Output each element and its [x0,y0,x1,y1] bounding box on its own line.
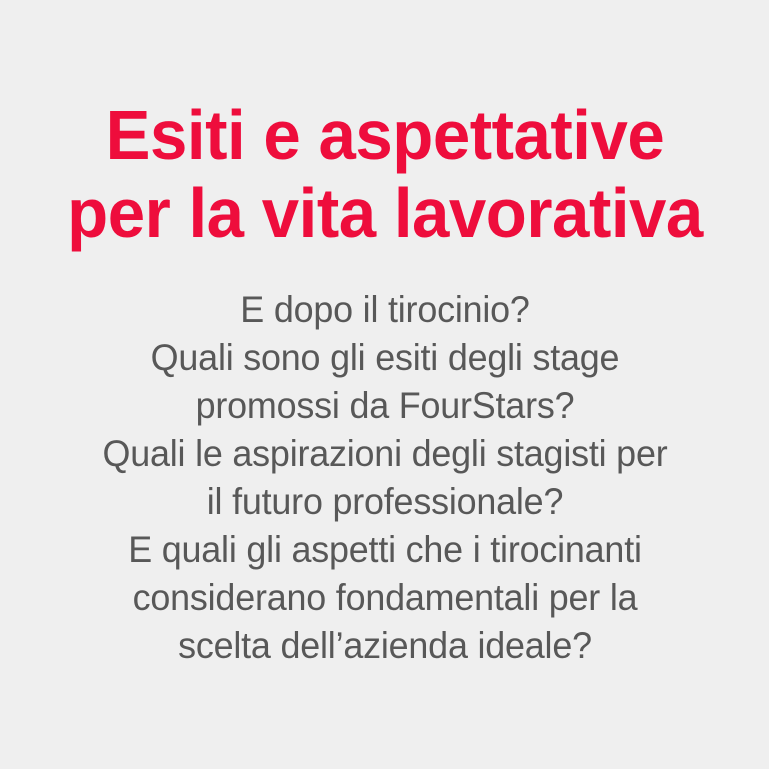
body-line-3: promossi da FourStars? [45,382,724,430]
body-line-7: considerano fondamentali per la [45,574,724,622]
body-line-8: scelta dell’azienda ideale? [45,622,724,670]
slide-root: Esiti e aspettative per la vita lavorati… [0,0,769,769]
body-line-2: Quali sono gli esiti degli stage [45,334,724,382]
body-line-6: E quali gli aspetti che i tirocinanti [45,526,724,574]
slide-title: Esiti e aspettative per la vita lavorati… [49,96,721,252]
body-line-4: Quali le aspirazioni degli stagisti per [45,430,724,478]
body-line-5: il futuro professionale? [45,478,724,526]
slide-body-text: E dopo il tirocinio? Quali sono gli esit… [45,286,724,670]
body-line-1: E dopo il tirocinio? [45,286,724,334]
